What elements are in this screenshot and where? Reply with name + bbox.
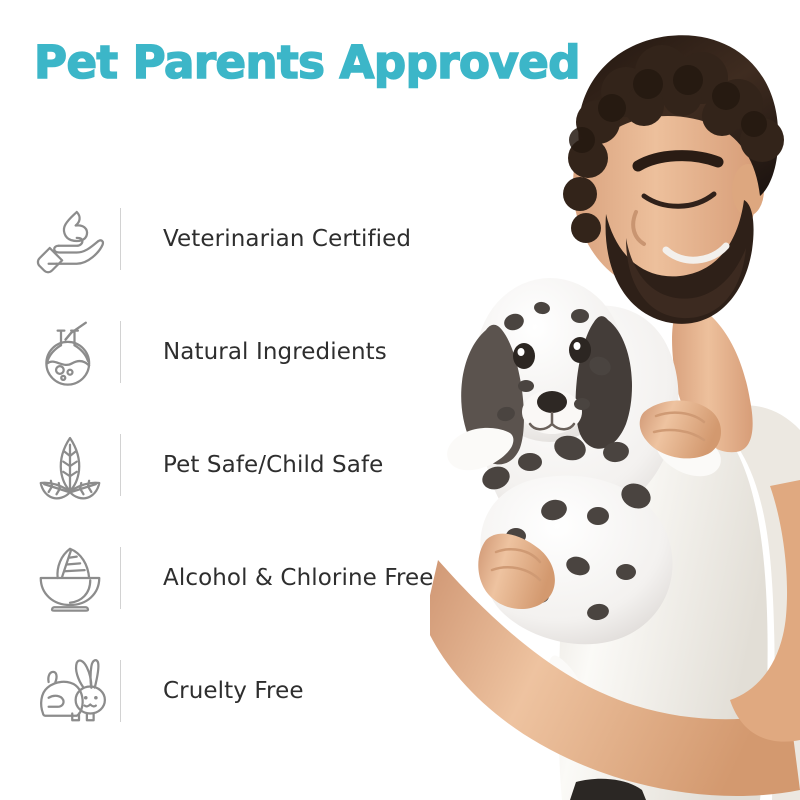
list-item-label: Natural Ingredients: [163, 337, 387, 367]
list-item-divider: [120, 321, 121, 383]
man-hugging-dalmatian-puppy-illustration: [430, 0, 800, 800]
rabbit-icon: [32, 653, 108, 729]
flask-check-icon: [32, 314, 108, 390]
list-item[interactable]: Pet Safe/Child Safe: [0, 408, 470, 521]
dog-right-eye-glint: [574, 342, 581, 350]
list-item[interactable]: Veterinarian Certified: [0, 182, 470, 295]
list-item-divider: [120, 434, 121, 496]
hand-with-soap-icon: [32, 201, 108, 277]
list-item-divider: [120, 660, 121, 722]
pet-parents-approved-infographic: Pet Parents Approved: [0, 0, 800, 800]
list-item[interactable]: Natural Ingredients: [0, 295, 470, 408]
list-item-divider: [120, 208, 121, 270]
list-item-label: Pet Safe/Child Safe: [163, 450, 383, 480]
list-item-divider: [120, 547, 121, 609]
list-item[interactable]: Alcohol & Chlorine Free: [0, 521, 470, 634]
bowl-with-leaf-icon: [32, 540, 108, 616]
list-item-label: Veterinarian Certified: [163, 224, 411, 254]
hero-photo: [430, 0, 800, 800]
dog-right-eye: [569, 337, 591, 363]
dog-left-eye: [513, 343, 535, 369]
feature-list: Veterinarian Certified Natura: [0, 182, 470, 747]
dog-nose: [537, 391, 567, 413]
three-leaves-icon: [32, 427, 108, 503]
list-item[interactable]: Cruelty Free: [0, 634, 470, 747]
dog-left-eye-glint: [518, 348, 525, 356]
list-item-label: Cruelty Free: [163, 676, 304, 706]
list-item-label: Alcohol & Chlorine Free: [163, 563, 434, 593]
